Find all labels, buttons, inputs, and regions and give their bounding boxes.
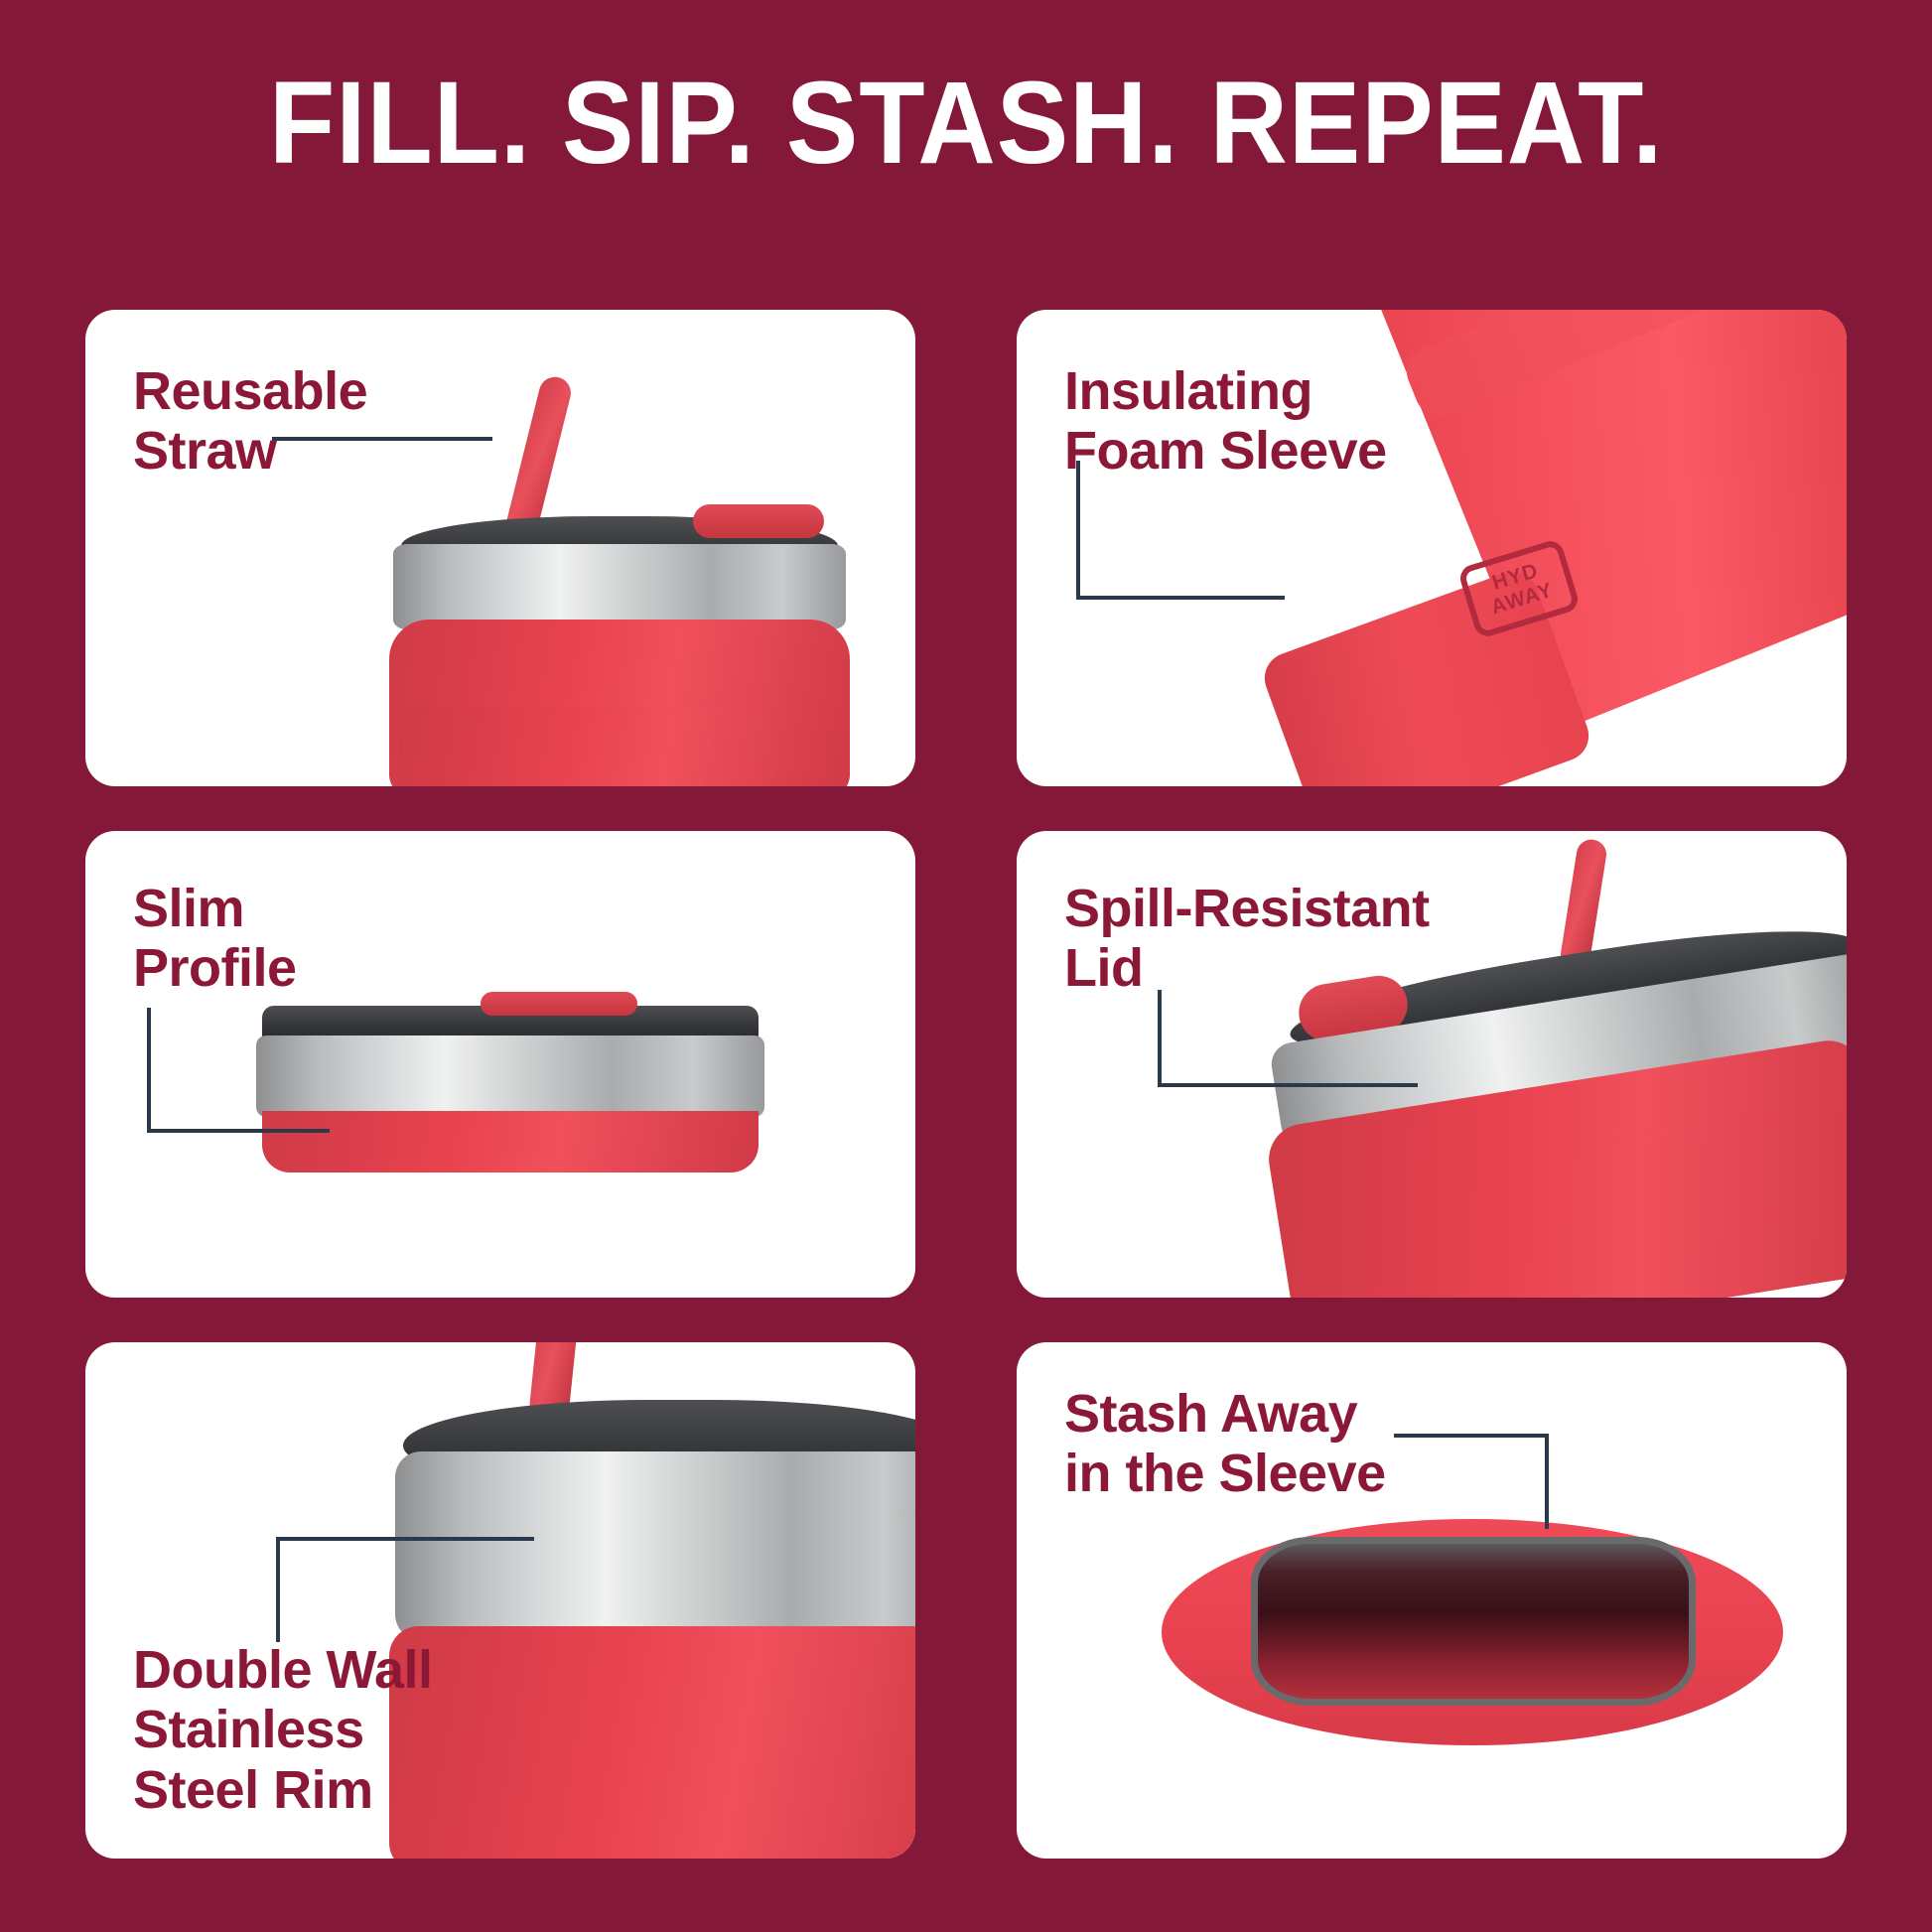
- feature-card-insulating-foam-sleeve[interactable]: HYD AWAY Insulating Foam Sleeve: [1017, 310, 1847, 786]
- leader-line-stash-away: [1394, 1434, 1549, 1529]
- feature-label-slim-profile: Slim Profile: [133, 879, 297, 999]
- feature-label-reusable-straw: Reusable Straw: [133, 361, 367, 482]
- leader-line-reusable-straw: [272, 437, 492, 443]
- silicone-body-lower: [399, 707, 840, 786]
- feature-label-stash-away-in-the-sleeve: Stash Away in the Sleeve: [1064, 1384, 1386, 1504]
- leader-line-spill-resistant-lid: [1158, 990, 1418, 1087]
- collapsed-lid-nub: [481, 992, 637, 1016]
- lid-nub: [693, 504, 824, 538]
- feature-label-double-wall-stainless-steel-rim: Double Wall Stainless Steel Rim: [133, 1640, 433, 1820]
- feature-card-double-wall-stainless-steel-rim[interactable]: Double Wall Stainless Steel Rim: [85, 1342, 915, 1859]
- feature-card-grid: Reusable Straw HYD AWAY Insulating Foam …: [85, 310, 1847, 1859]
- stainless-steel-band: [393, 544, 846, 629]
- feature-card-stash-away-in-the-sleeve[interactable]: Stash Away in the Sleeve: [1017, 1342, 1847, 1859]
- leader-line-insulating-foam-sleeve: [1076, 461, 1285, 600]
- page-title: FILL. SIP. STASH. REPEAT.: [269, 56, 1663, 191]
- rim-body: [389, 1626, 915, 1859]
- feature-label-spill-resistant-lid: Spill-Resistant Lid: [1064, 879, 1430, 999]
- title-bar: FILL. SIP. STASH. REPEAT.: [0, 0, 1932, 246]
- collapsed-red-base: [262, 1111, 759, 1173]
- sleeve-inner-cavity: [1251, 1537, 1696, 1706]
- feature-card-spill-resistant-lid[interactable]: Spill-Resistant Lid: [1017, 831, 1847, 1298]
- leader-line-double-wall-rim: [276, 1537, 534, 1642]
- feature-card-reusable-straw[interactable]: Reusable Straw: [85, 310, 915, 786]
- collapsed-steel-band: [256, 1035, 764, 1117]
- leader-line-slim-profile: [147, 1008, 330, 1133]
- feature-card-slim-profile[interactable]: Slim Profile: [85, 831, 915, 1298]
